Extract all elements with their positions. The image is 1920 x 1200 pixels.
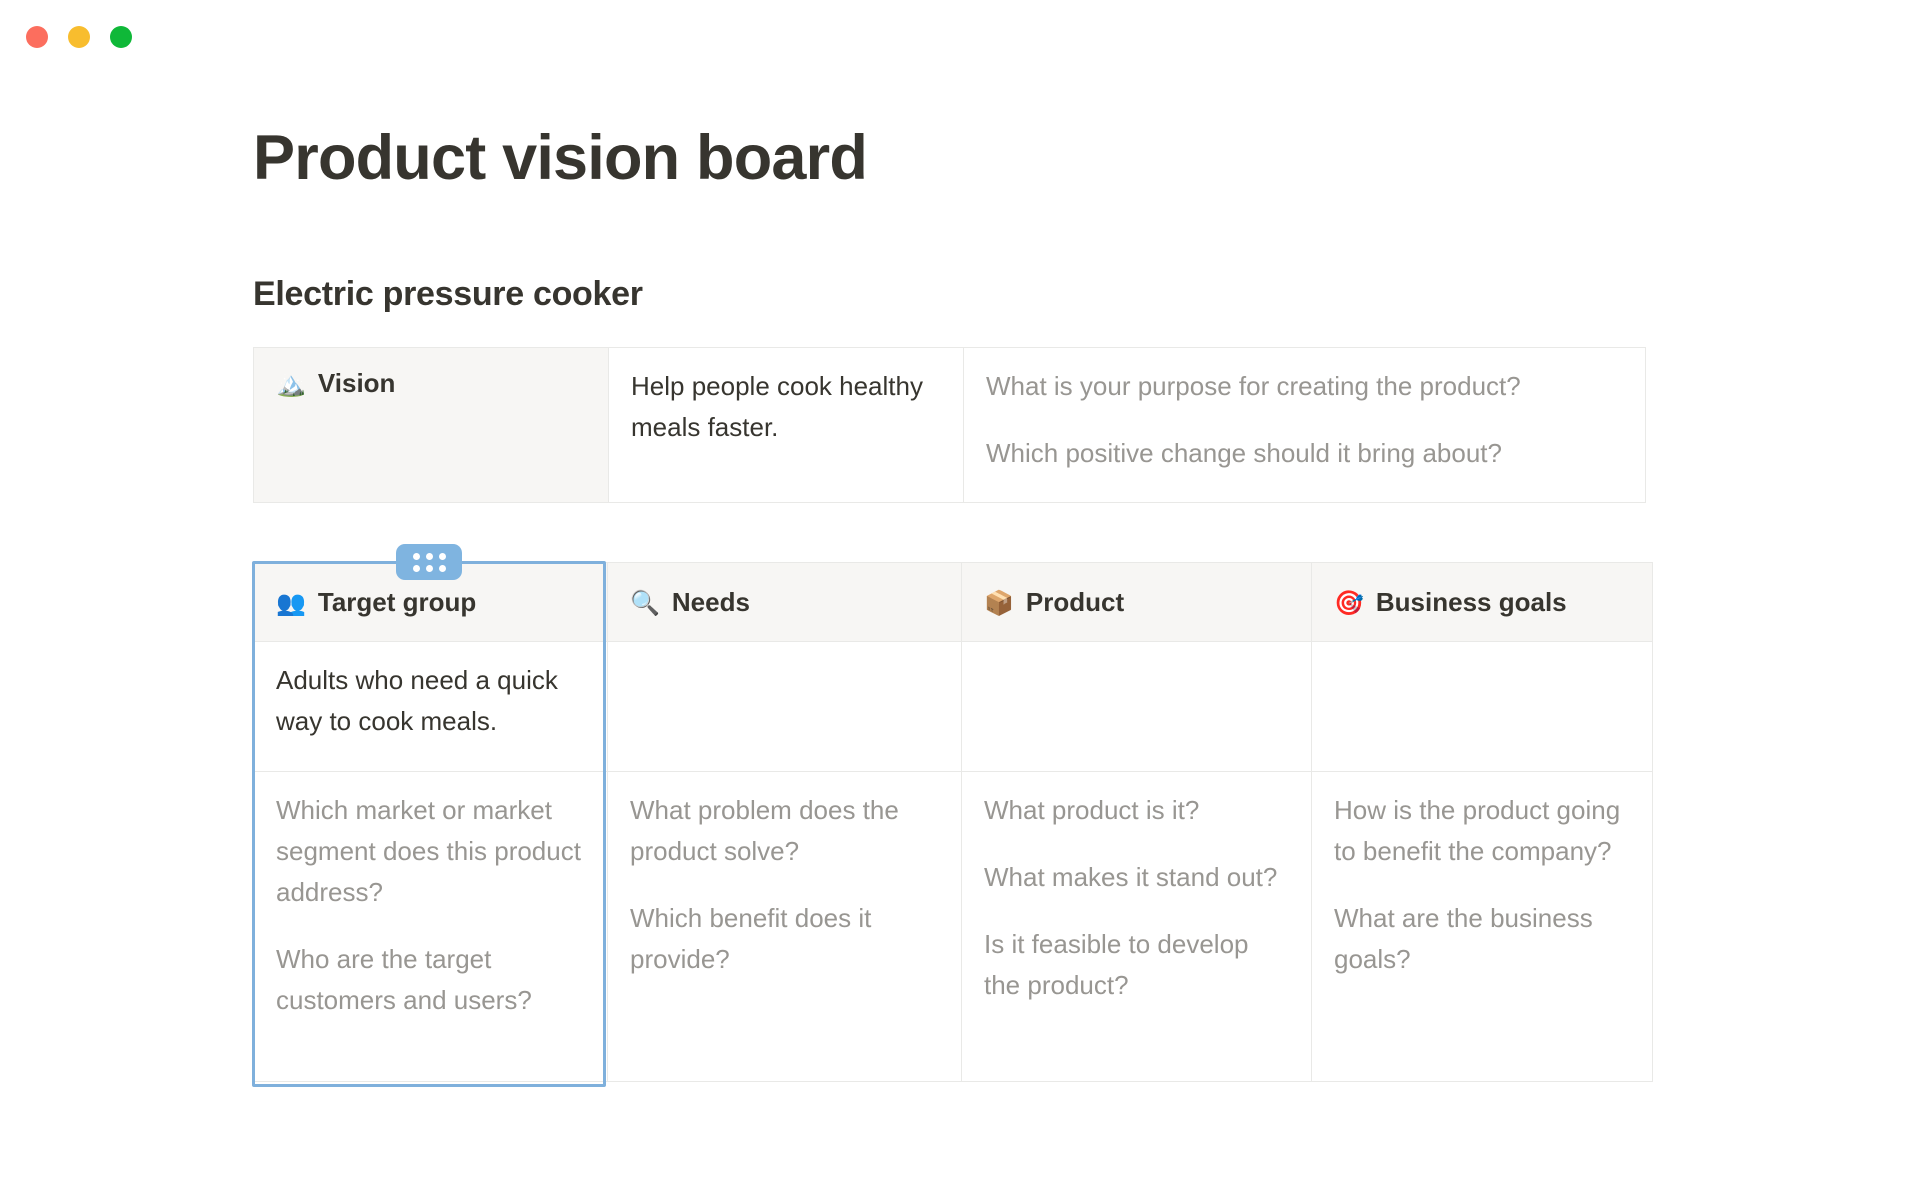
board-subtitle[interactable]: Electric pressure cooker xyxy=(253,272,643,316)
column-header-needs[interactable]: 🔍Needs xyxy=(608,563,962,642)
value-cell-product[interactable] xyxy=(962,642,1312,772)
vision-value-cell[interactable]: Help people cook healthy meals faster. xyxy=(609,348,964,503)
vision-table: 🏔️Vision Help people cook healthy meals … xyxy=(253,347,1646,503)
value-cell-target-group[interactable]: Adults who need a quick way to cook meal… xyxy=(254,642,608,772)
package-box-icon: 📦 xyxy=(984,587,1014,621)
value-cell-needs[interactable] xyxy=(608,642,962,772)
prompt-line: What are the business goals? xyxy=(1334,898,1630,980)
vision-row: 🏔️Vision Help people cook healthy meals … xyxy=(254,348,1646,503)
column-header-product[interactable]: 📦Product xyxy=(962,563,1312,642)
snow-capped-mountain-icon: 🏔️ xyxy=(276,368,306,402)
prompt-cell-needs[interactable]: What problem does the product solve? Whi… xyxy=(608,772,962,1082)
drag-grip-icon xyxy=(413,553,446,572)
prompt-line: What product is it? xyxy=(984,790,1289,831)
prompt-line: Which benefit does it provide? xyxy=(630,898,939,980)
vision-prompt-1: What is your purpose for creating the pr… xyxy=(986,366,1623,407)
vision-header-cell[interactable]: 🏔️Vision xyxy=(254,348,609,503)
column-header-label: Needs xyxy=(672,587,750,617)
vision-prompt-2: Which positive change should it bring ab… xyxy=(986,433,1623,474)
vision-prompt-cell[interactable]: What is your purpose for creating the pr… xyxy=(964,348,1646,503)
column-header-label: Product xyxy=(1026,587,1124,617)
prompt-line: What makes it stand out? xyxy=(984,857,1289,898)
board-value-row: Adults who need a quick way to cook meal… xyxy=(254,642,1653,772)
column-drag-handle[interactable] xyxy=(396,544,462,580)
direct-hit-target-icon: 🎯 xyxy=(1334,587,1364,621)
prompt-line: Is it feasible to develop the product? xyxy=(984,924,1289,1006)
board-header-row: 👥Target group 🔍Needs 📦Product 🎯Business … xyxy=(254,563,1653,642)
prompt-cell-product[interactable]: What product is it? What makes it stand … xyxy=(962,772,1312,1082)
magnifying-glass-icon: 🔍 xyxy=(630,587,660,621)
prompt-cell-target-group[interactable]: Which market or market segment does this… xyxy=(254,772,608,1082)
prompt-line: How is the product going to benefit the … xyxy=(1334,790,1630,872)
prompt-line: What problem does the product solve? xyxy=(630,790,939,872)
column-header-label: Target group xyxy=(318,587,476,617)
value-cell-business-goals[interactable] xyxy=(1312,642,1653,772)
product-vision-board-table: 👥Target group 🔍Needs 📦Product 🎯Business … xyxy=(253,562,1653,1082)
column-header-label: Business goals xyxy=(1376,587,1567,617)
vision-header-label: Vision xyxy=(318,368,396,398)
prompt-line: Who are the target customers and users? xyxy=(276,939,585,1021)
board-prompt-row: Which market or market segment does this… xyxy=(254,772,1653,1082)
column-header-business-goals[interactable]: 🎯Business goals xyxy=(1312,563,1653,642)
busts-in-silhouette-icon: 👥 xyxy=(276,587,306,621)
page-title[interactable]: Product vision board xyxy=(253,120,867,196)
prompt-cell-business-goals[interactable]: How is the product going to benefit the … xyxy=(1312,772,1653,1082)
document-canvas: Product vision board Electric pressure c… xyxy=(0,0,1920,1200)
prompt-line: Which market or market segment does this… xyxy=(276,790,585,913)
